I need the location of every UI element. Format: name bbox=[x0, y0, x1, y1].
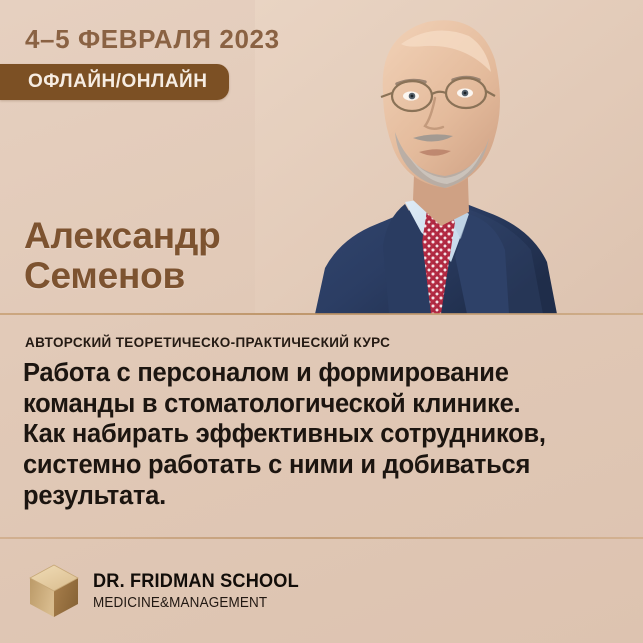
speaker-name: Александр Семенов bbox=[24, 216, 221, 296]
course-title-line: Работа с персоналом и формирование bbox=[23, 358, 623, 389]
course-title-line: системно работать с ними и добиваться bbox=[23, 450, 623, 481]
format-badge-label: ОФЛАЙН/ОНЛАЙН bbox=[28, 71, 207, 93]
cube-icon bbox=[28, 563, 80, 619]
speaker-first-name: Александр bbox=[24, 216, 221, 256]
course-title: Работа с персоналом и формирование коман… bbox=[23, 358, 623, 512]
brand-name: DR. FRIDMAN SCHOOL bbox=[93, 572, 299, 592]
speaker-portrait-illustration bbox=[255, 0, 643, 314]
course-title-line: Как набирать эффективных сотрудников, bbox=[23, 419, 623, 450]
brand-tagline: MEDICINE&MANAGEMENT bbox=[93, 596, 299, 611]
photo-divider bbox=[0, 313, 643, 315]
format-badge: ОФЛАЙН/ОНЛАЙН bbox=[0, 64, 229, 100]
course-title-line: результата. bbox=[23, 481, 623, 512]
brand-logo: DR. FRIDMAN SCHOOL MEDICINE&MANAGEMENT bbox=[28, 563, 314, 619]
footer: DR. FRIDMAN SCHOOL MEDICINE&MANAGEMENT bbox=[0, 539, 643, 643]
brand-text: DR. FRIDMAN SCHOOL MEDICINE&MANAGEMENT bbox=[93, 572, 314, 610]
course-eyebrow: АВТОРСКИЙ ТЕОРЕТИЧЕСКО-ПРАКТИЧЕСКИЙ КУРС bbox=[25, 335, 390, 350]
course-title-line: команды в стоматологической клинике. bbox=[23, 389, 623, 420]
speaker-photo bbox=[255, 0, 643, 314]
speaker-last-name: Семенов bbox=[24, 256, 221, 296]
event-date: 4–5 ФЕВРАЛЯ 2023 bbox=[25, 24, 280, 55]
promo-poster: 4–5 ФЕВРАЛЯ 2023 ОФЛАЙН/ОНЛАЙН Александр… bbox=[0, 0, 643, 643]
